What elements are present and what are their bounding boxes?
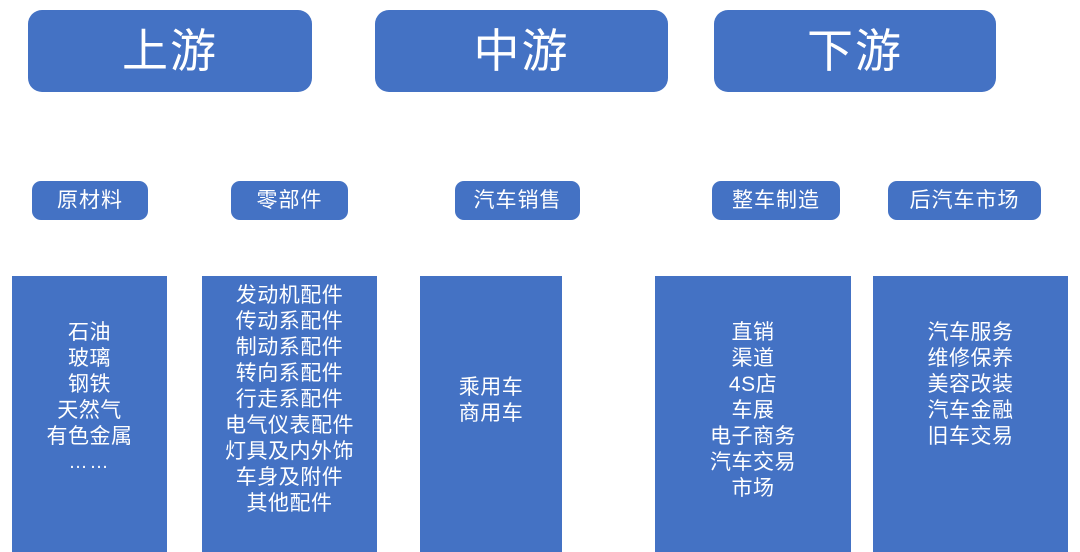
category-pill-3[interactable]: 整车制造 [712,181,840,220]
panel-item: 汽车服务 [873,320,1068,346]
panel-item: 商用车 [420,401,562,427]
panel-item: 乘用车 [420,375,562,401]
panel-item: 汽车金融 [873,398,1068,424]
panel-item: 转向系配件 [202,361,377,387]
category-pill-label: 原材料 [57,190,123,211]
panel-item: 电子商务 [655,424,851,450]
panel-item: 行走系配件 [202,387,377,413]
panel-item: 天然气 [12,398,167,424]
panel-auto-sales-channels: 直销渠道4S店车展电子商务汽车交易市场 [655,276,851,552]
category-pill-label: 后汽车市场 [910,190,1020,211]
panel-item: 渠道 [655,346,851,372]
panel-item: 发动机配件 [202,283,377,309]
diagram-canvas: 上游中游下游 原材料零部件汽车销售整车制造后汽车市场 石油玻璃钢铁天然气有色金属… [0,0,1080,552]
tier-box-2[interactable]: 下游 [714,10,996,92]
panel-item: 电气仪表配件 [202,413,377,439]
panel-item: 4S店 [655,372,851,398]
panel-item: 市场 [655,476,851,502]
panel-raw-materials: 石油玻璃钢铁天然气有色金属…… [12,276,167,552]
category-pill-1[interactable]: 零部件 [231,181,348,220]
category-pill-4[interactable]: 后汽车市场 [888,181,1041,220]
panel-item: 维修保养 [873,346,1068,372]
tier-box-label: 上游 [122,28,218,74]
panel-item: 车身及附件 [202,465,377,491]
panel-item: 灯具及内外饰 [202,439,377,465]
panel-auto-parts: 发动机配件传动系配件制动系配件转向系配件行走系配件电气仪表配件灯具及内外饰车身及… [202,276,377,552]
panel-item: 石油 [12,320,167,346]
tier-box-1[interactable]: 中游 [375,10,668,92]
category-pill-label: 整车制造 [732,190,820,211]
panel-item: 有色金属 [12,424,167,450]
panel-item: 钢铁 [12,372,167,398]
category-pill-0[interactable]: 原材料 [32,181,148,220]
tier-box-label: 中游 [474,28,570,74]
panel-item: 其他配件 [202,491,377,517]
panel-item: 旧车交易 [873,424,1068,450]
panel-item: 制动系配件 [202,335,377,361]
panel-item: 汽车交易 [655,450,851,476]
category-pill-label: 零部件 [257,190,323,211]
panel-item: 玻璃 [12,346,167,372]
panel-item: 美容改装 [873,372,1068,398]
tier-box-0[interactable]: 上游 [28,10,312,92]
category-pill-2[interactable]: 汽车销售 [455,181,580,220]
category-pill-label: 汽车销售 [474,190,562,211]
tier-box-label: 下游 [807,28,903,74]
panel-item: …… [12,450,167,476]
panel-vehicle-manufacturing: 乘用车商用车 [420,276,562,552]
panel-item: 车展 [655,398,851,424]
panel-item: 传动系配件 [202,309,377,335]
panel-item: 直销 [655,320,851,346]
panel-aftermarket-services: 汽车服务维修保养美容改装汽车金融旧车交易 [873,276,1068,552]
